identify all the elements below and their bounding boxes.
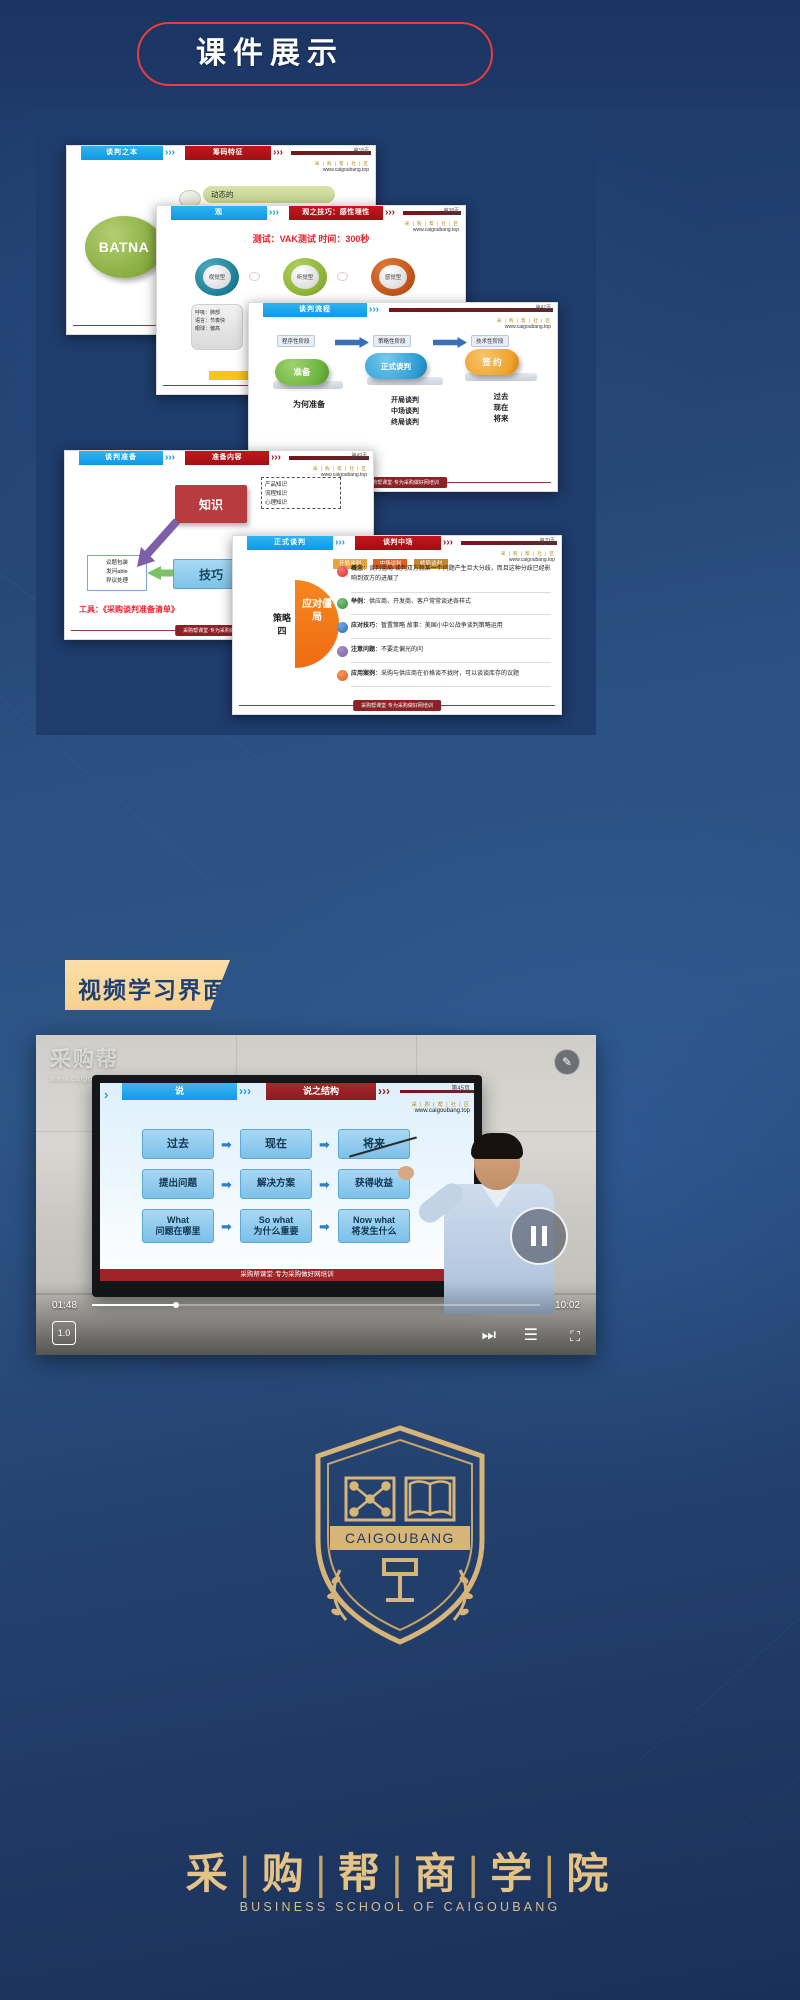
brand-char-3: 商 xyxy=(414,1849,462,1898)
pause-button[interactable] xyxy=(510,1207,568,1265)
grid-cell-2-0: What 问题在哪里 xyxy=(142,1209,214,1243)
total-time: 10:02 xyxy=(555,1300,580,1311)
row-text-1: 举例：供应商、开发商、客户常常谈述各样式 xyxy=(351,597,551,607)
chevron-icon: ››› xyxy=(165,146,179,160)
row-rule xyxy=(351,614,551,615)
slide-header-bar: 观 ››› 观之技巧：感性理性 ››› xyxy=(157,206,465,220)
courseware-gallery: 谈判之本 ››› 筹码特征 ››› 第18页 采 | 购 | 帮 | 社 | 区… xyxy=(36,110,596,735)
title-section: 课件展示 xyxy=(0,0,800,110)
phase-label-3: 技术性阶段 xyxy=(471,335,509,347)
brand-sep: | xyxy=(466,1849,486,1898)
brand-name-cn: 采|购|帮|商|学|院 xyxy=(0,1840,800,1901)
row-body-1: 供应商、开发商、客户常常谈述各样式 xyxy=(369,599,471,605)
row-rule xyxy=(351,662,551,663)
slide1-tab-left: 谈判之本 xyxy=(81,146,163,160)
vak-type-kinesthetic-label: 感觉型 xyxy=(379,265,407,289)
stage-prepare: 准备 xyxy=(275,359,329,385)
vak-type-visual-label: 视觉型 xyxy=(203,265,231,289)
slide-header-bar: 谈判流程 ››› xyxy=(249,303,557,317)
slide5-tab-right: 谈判中场 xyxy=(355,536,441,550)
arrow-icon: ➡ xyxy=(221,1137,232,1153)
row-text-4: 应用案例：采购与供应商在价格谈不拢时，可以谈谈库存的议题 xyxy=(351,669,551,679)
brand-tagline: BUSINESS SCHOOL OF CAIGOUBANG xyxy=(0,1900,800,1914)
arrow-icon: ➡ xyxy=(319,1177,330,1193)
grid-cell-1-0: 提出问题 xyxy=(142,1169,214,1199)
grid-cell-2-1: So what 为什么重要 xyxy=(240,1209,312,1243)
controls-scrim xyxy=(36,1281,596,1355)
instructor-hand xyxy=(398,1166,414,1180)
vak-test-line: 测试：VAK测试 时间：300秒 xyxy=(157,232,465,245)
screen-brand: 采 | 购 | 帮 | 社 | 区 xyxy=(412,1101,470,1108)
slide1-page-number: 第18页 xyxy=(353,147,369,154)
row-rule xyxy=(351,638,551,639)
chevron-icon: ››› xyxy=(378,1083,390,1100)
fullscreen-icon[interactable]: ⛶ xyxy=(570,1328,580,1345)
chevron-icon: ››› xyxy=(369,303,383,317)
slide4-tab-left: 谈判准备 xyxy=(79,451,163,465)
stage-prepare-label: 准备 xyxy=(293,366,310,378)
screen-header-bar: › 说 ››› 说之结构 ››› xyxy=(100,1083,474,1100)
vak-type-auditory-label: 听觉型 xyxy=(291,265,319,289)
arrow-icon xyxy=(335,337,369,348)
row-body-3: 不要走偏光的问 xyxy=(381,647,423,653)
slide2-tab-right: 观之技巧：感性理性 xyxy=(289,206,383,220)
phase-label-2: 策略性阶段 xyxy=(373,335,411,347)
chevron-icon: ››› xyxy=(273,146,287,160)
progress-fill xyxy=(92,1304,173,1306)
row-tag-1: 举例 xyxy=(351,599,363,605)
current-time: 01:48 xyxy=(52,1300,77,1311)
slide1-url: www.caigoubang.top xyxy=(323,167,369,173)
row-text-3: 注意问题：不要走偏光的问 xyxy=(351,645,551,655)
slide4-tab-right: 准备内容 xyxy=(185,451,269,465)
slide2-tab-left: 观 xyxy=(171,206,267,220)
chevron-icon: ››› xyxy=(335,536,349,550)
row-bullet xyxy=(337,670,348,681)
row-tag-2: 应对技巧 xyxy=(351,623,375,629)
slide5-page-number: 第70页 xyxy=(539,537,555,544)
arrow-icon xyxy=(131,517,191,569)
vak-type-visual: 视觉型 xyxy=(195,258,239,296)
knowledge-note: 产品知识 流程知识 心理知识 xyxy=(261,477,341,509)
stage-prepare-caption: 为何准备 xyxy=(269,399,349,410)
page-title: 课件展示 xyxy=(196,30,496,78)
arrow-icon: ➡ xyxy=(319,1219,330,1235)
progress-scrubber[interactable] xyxy=(92,1304,540,1306)
classroom-display: › 说 ››› 说之结构 ››› 第45页 采 | 购 | 帮 | 社 | 区 … xyxy=(92,1075,482,1297)
slide-on-screen: › 说 ››› 说之结构 ››› 第45页 采 | 购 | 帮 | 社 | 区 … xyxy=(100,1083,474,1281)
row-text-2: 应对技巧：暂置策略 故事：美国小中公战争谈判策略运用 xyxy=(351,621,551,631)
batna-label: BATNA xyxy=(85,216,163,278)
slide-header-bar: 谈判准备 ››› 准备内容 ››› xyxy=(65,451,373,465)
chevron-icon: ››› xyxy=(443,536,457,550)
slide5-footer-tag: 采购帮课堂·专为采购做好网培训 xyxy=(353,700,441,711)
slide5-tab-left: 正式谈判 xyxy=(247,536,333,550)
slide3-url: www.caigoubang.top xyxy=(505,324,551,330)
shield-logo: CAIGOUBANG xyxy=(300,1420,500,1650)
strategy-title: 应对僵局 xyxy=(301,598,333,624)
row-body-4: 采购与供应商在价格谈不拢时，可以谈谈库存的议题 xyxy=(381,671,519,677)
instructor-hair xyxy=(471,1133,523,1159)
row-bullet xyxy=(337,598,348,609)
screen-tab-right: 说之结构 xyxy=(266,1083,376,1100)
brand-sep: | xyxy=(238,1849,258,1898)
stage-sign-label: 签 约 xyxy=(482,356,501,368)
slide-footer: 采购帮课堂·专为采购做好网培训 xyxy=(233,700,561,710)
vak-detail-visual: 呼吸：肺部 语言：节奏快 眼球：偏高 xyxy=(191,304,243,350)
courseware-slide-5[interactable]: 正式谈判 ››› 谈判中场 ››› 第70页 采 | 购 | 帮 | 社 | 区… xyxy=(232,535,562,715)
brand-sep: | xyxy=(542,1849,562,1898)
stage-sign-caption: 过去 现在 将来 xyxy=(461,391,541,424)
row-text-0: 概念：谈判僵局 谈判双方就某一个问题产生巨大分歧，而且这种分歧已经影响到双方的进… xyxy=(351,564,551,584)
row-body-0: 谈判僵局 谈判双方就某一个问题产生巨大分歧，而且这种分歧已经影响到双方的进展了 xyxy=(351,566,551,582)
video-player[interactable]: 采购帮 www.caigoubang.top › 说 ››› 说之结构 ››› … xyxy=(36,1035,596,1355)
screen-tab-left: 说 xyxy=(122,1083,237,1100)
row-bullet xyxy=(337,622,348,633)
chevron-icon: ››› xyxy=(239,1083,251,1100)
brand-char-4: 学 xyxy=(490,1849,538,1898)
slide2-page-number: 第38页 xyxy=(443,207,459,214)
chevron-icon: ››› xyxy=(271,451,285,465)
row-bullet xyxy=(337,646,348,657)
edit-icon[interactable]: ✎ xyxy=(554,1049,580,1075)
grid-cell-0-1: 现在 xyxy=(240,1129,312,1159)
row-rule xyxy=(351,686,551,687)
stage-formal: 正式谈判 xyxy=(365,353,427,379)
slide5-url: www.caigoubang.top xyxy=(509,557,555,563)
arrow-icon: ➡ xyxy=(221,1219,232,1235)
pause-bar xyxy=(542,1226,547,1246)
row-tag-3: 注意问题 xyxy=(351,647,375,653)
screen-page-number: 第45页 xyxy=(451,1083,470,1092)
bullet-item: 动态的 xyxy=(203,186,335,203)
arrow-icon: ➡ xyxy=(221,1177,232,1193)
grid-cell-0-0: 过去 xyxy=(142,1129,214,1159)
row-tag-4: 应用案例 xyxy=(351,671,375,677)
chevron-right-icon: › xyxy=(104,1087,108,1102)
slide1-tab-right: 筹码特征 xyxy=(185,146,271,160)
stage-sign: 签 约 xyxy=(465,349,519,375)
phase-label-1: 程序性阶段 xyxy=(277,335,315,347)
chevron-icon: ››› xyxy=(165,451,179,465)
slide3-page-number: 第47页 xyxy=(535,304,551,311)
brand-char-0: 采 xyxy=(186,1849,234,1898)
brand-sep: | xyxy=(314,1849,334,1898)
strategy-number: 策略四 xyxy=(269,594,295,656)
slide-header-bar: 谈判之本 ››› 筹码特征 ››› xyxy=(67,146,375,160)
grid-cell-2-2: Now what 将发生什么 xyxy=(338,1209,410,1243)
slide4-page-number: 第49页 xyxy=(351,452,367,459)
arrow-icon xyxy=(433,337,467,348)
stage-formal-caption: 开局谈判 中场谈判 终局谈判 xyxy=(361,395,449,428)
row-body-2: 暂置策略 故事：美国小中公战争谈判策略运用 xyxy=(381,623,503,629)
row-tag-0: 概念 xyxy=(351,566,363,572)
slide-header-bar: 正式谈判 ››› 谈判中场 ››› xyxy=(233,536,561,550)
brand-char-1: 购 xyxy=(262,1849,310,1898)
tool-line: 工具：《采购谈判准备清单》 xyxy=(79,604,179,615)
screen-url: www.caigoubang.top xyxy=(415,1108,470,1114)
shield-wordmark: CAIGOUBANG xyxy=(345,1530,455,1546)
grid-cell-1-1: 解决方案 xyxy=(240,1169,312,1199)
video-section-label-text: 视频学习界面 xyxy=(78,971,228,1005)
brand-watermark-text: 采购帮 xyxy=(50,1046,119,1071)
vak-type-kinesthetic: 感觉型 xyxy=(371,258,415,296)
brand-char-2: 帮 xyxy=(338,1849,386,1898)
arrow-icon xyxy=(147,563,175,583)
brand-char-5: 院 xyxy=(566,1849,614,1898)
connector-dot xyxy=(249,272,260,281)
stage-formal-label: 正式谈判 xyxy=(381,361,411,372)
slide-rail xyxy=(389,308,553,312)
chevron-icon: ››› xyxy=(269,206,283,220)
brand-sep: | xyxy=(390,1849,410,1898)
connector-dot xyxy=(337,272,348,281)
playlist-icon[interactable]: ☰ xyxy=(524,1325,538,1345)
row-bullet xyxy=(337,566,348,577)
batna-node: BATNA xyxy=(85,216,163,278)
chevron-icon: ››› xyxy=(385,206,399,220)
screen-footer: 采购帮课堂·专为采购做好网培训 xyxy=(100,1269,474,1281)
row-rule xyxy=(351,592,551,593)
progress-handle[interactable] xyxy=(173,1302,179,1308)
arrow-icon: ➡ xyxy=(319,1137,330,1153)
speed-button[interactable]: 1.0 xyxy=(52,1321,76,1345)
vak-type-auditory: 听觉型 xyxy=(283,258,327,296)
slide3-tab-left: 谈判流程 xyxy=(263,303,367,317)
pause-bar xyxy=(531,1226,536,1246)
next-episode-icon[interactable]: ⏭ xyxy=(482,1327,496,1345)
semicircle-shape xyxy=(295,580,339,668)
brand-logo-section: CAIGOUBANG 采|购|帮|商|学|院 BUSINESS SCHOOL O… xyxy=(0,1420,800,2000)
video-section-label: 视频学习界面 xyxy=(65,960,230,1010)
